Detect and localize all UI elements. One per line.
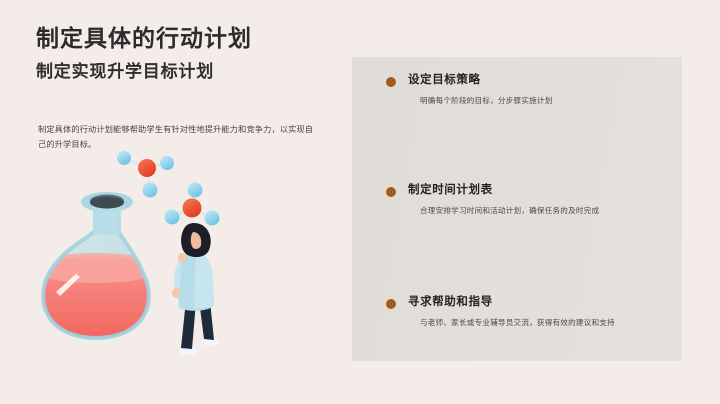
list-item[interactable]: 设定目标策略 明确每个阶段的目标，分步骤实施计划: [386, 73, 666, 106]
bullet-dot-icon: [386, 187, 396, 197]
flask-icon: [28, 192, 164, 350]
scientist-figure: [172, 223, 219, 355]
list-item-description: 与老师、家长或专业辅导员交流，获得有效的建议和支持: [420, 317, 666, 328]
content-panel: 设定目标策略 明确每个阶段的目标，分步骤实施计划 制定时间计划表 合理安排学习时…: [352, 57, 682, 361]
list-item-heading: 设定目标策略: [408, 73, 666, 88]
bullet-dot-icon: [386, 299, 396, 309]
left-column: 制定具体的行动计划 制定实现升学目标计划 制定具体的行动计划能够帮助学生有针对性…: [0, 0, 352, 404]
list-item-heading: 制定时间计划表: [408, 183, 666, 198]
list-item[interactable]: 寻求帮助和指导 与老师、家长或专业辅导员交流，获得有效的建议和支持: [386, 295, 666, 328]
molecule-icon-2: [165, 183, 220, 226]
list-item[interactable]: 制定时间计划表 合理安排学习时间和活动计划，确保任务的及时完成: [386, 183, 666, 216]
science-lab-illustration: [0, 140, 352, 370]
slide-root: 制定具体的行动计划 制定实现升学目标计划 制定具体的行动计划能够帮助学生有针对性…: [0, 0, 720, 404]
illustration-svg: [0, 140, 352, 370]
bullet-dot-icon: [386, 77, 396, 87]
list-item-description: 明确每个阶段的目标，分步骤实施计划: [420, 95, 666, 106]
list-item-description: 合理安排学习时间和活动计划，确保任务的及时完成: [420, 205, 666, 216]
page-title: 制定具体的行动计划: [36, 25, 252, 51]
list-item-heading: 寻求帮助和指导: [408, 295, 666, 310]
molecule-icon-1: [117, 151, 174, 198]
page-subtitle: 制定实现升学目标计划: [36, 62, 214, 82]
